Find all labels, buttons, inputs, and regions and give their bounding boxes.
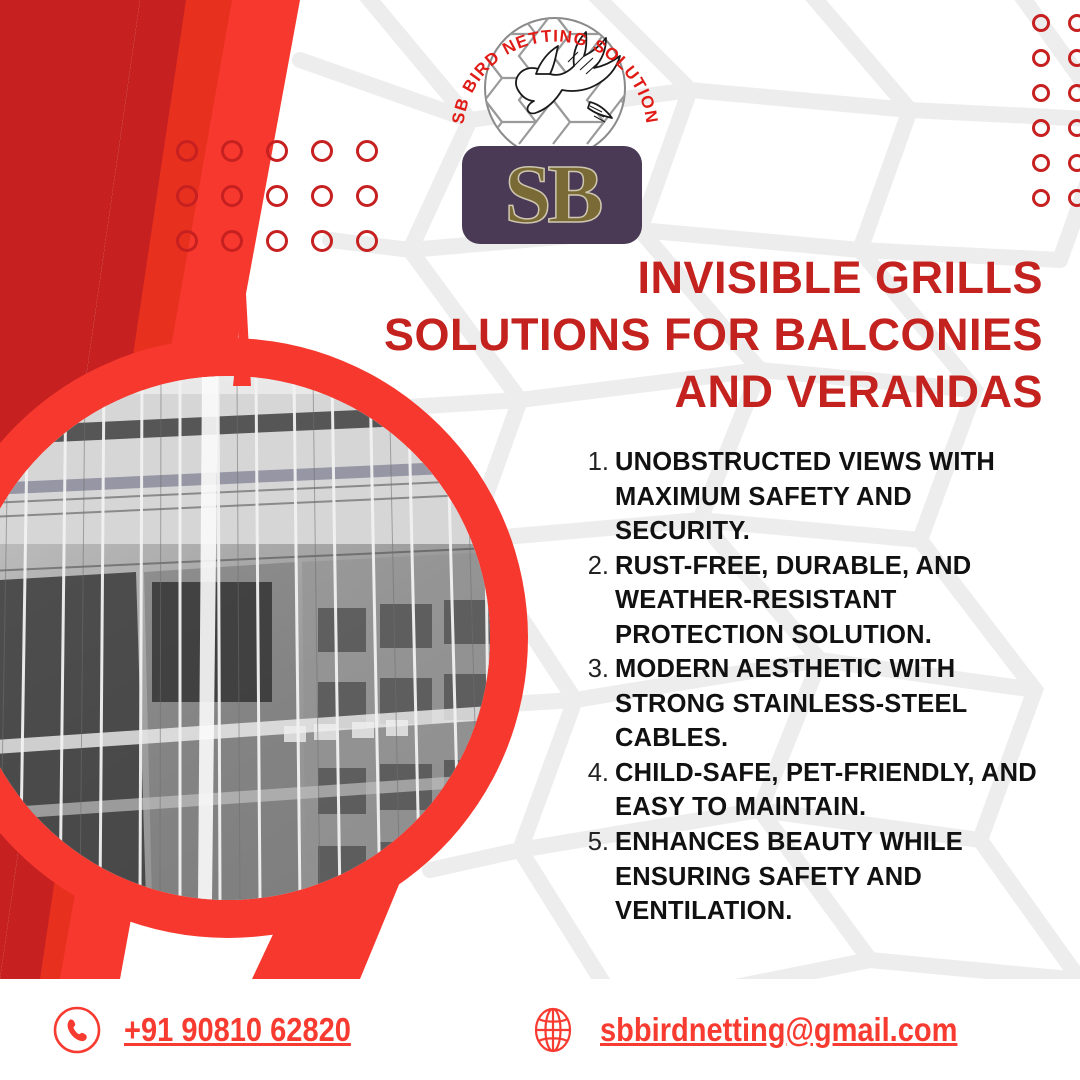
dot [176,185,198,207]
logo-monogram-badge: SB [462,146,642,244]
dot [1068,189,1080,207]
dot [1032,84,1050,102]
contact-email-text: sbbirdnetting@gmail.com [600,1011,957,1049]
dot [1068,154,1080,172]
list-item-text: ENHANCES BEAUTY WHILE ENSURING SAFETY AN… [615,825,1045,929]
list-item-text: CHILD-SAFE, PET-FRIENDLY, AND EASY TO MA… [615,756,1045,825]
logo-emblem: SB BIRD NETTING SOLUTION [440,4,670,164]
dot [311,140,333,162]
list-item: 5. ENHANCES BEAUTY WHILE ENSURING SAFETY… [575,825,1045,929]
contact-email[interactable]: sbbirdnetting@gmail.com [528,1005,1006,1055]
globe-icon [528,1005,578,1055]
list-item-text: RUST-FREE, DURABLE, AND WEATHER-RESISTAN… [615,549,1045,653]
brand-logo: SB BIRD NETTING SOLUTION SB [440,4,670,250]
page-title: INVISIBLE GRILLS SOLUTIONS FOR BALCONIES… [360,249,1043,420]
dot [266,140,288,162]
contact-phone-text: +91 90810 62820 [124,1011,351,1049]
headline-line-2: SOLUTIONS FOR BALCONIES [360,306,1043,363]
dot [176,230,198,252]
list-item-number: 4. [575,756,615,791]
phone-icon [52,1005,102,1055]
contact-phone[interactable]: +91 90810 62820 [52,1005,382,1055]
headline-line-3: AND VERANDAS [360,363,1043,420]
list-item-number: 2. [575,549,615,584]
list-item: 3. MODERN AESTHETIC WITH STRONG STAINLES… [575,652,1045,756]
list-item: 2. RUST-FREE, DURABLE, AND WEATHER-RESIS… [575,549,1045,653]
dot [356,185,378,207]
dot [1068,119,1080,137]
dot [1032,49,1050,67]
red-spike-accent [222,276,262,386]
logo-monogram-text: SB [505,153,600,237]
dot [1032,189,1050,207]
dot [311,230,333,252]
list-item-text: UNOBSTRUCTED VIEWS WITH MAXIMUM SAFETY A… [615,445,1045,549]
dot [176,140,198,162]
dot [1068,14,1080,32]
dot [221,185,243,207]
dot [266,230,288,252]
list-item-number: 3. [575,652,615,687]
dot-grid-left [176,140,384,258]
dot [1032,119,1050,137]
list-item-text: MODERN AESTHETIC WITH STRONG STAINLESS-S… [615,652,1045,756]
dot [1068,84,1080,102]
poster-canvas: SB BIRD NETTING SOLUTION SB INVISIBLE GR… [0,0,1080,1080]
dot-grid-right [1032,14,1080,215]
benefits-list: 1. UNOBSTRUCTED VIEWS WITH MAXIMUM SAFET… [575,445,1045,929]
contact-footer: +91 90810 62820 sbbirdnetting@gmail.com [0,979,1080,1080]
dot [1068,49,1080,67]
dot [221,230,243,252]
product-photo [0,376,490,900]
list-item: 4. CHILD-SAFE, PET-FRIENDLY, AND EASY TO… [575,756,1045,825]
dot [311,185,333,207]
dot [356,140,378,162]
list-item-number: 1. [575,445,615,480]
headline-line-1: INVISIBLE GRILLS [360,249,1043,306]
dot [221,140,243,162]
list-item-number: 5. [575,825,615,860]
list-item: 1. UNOBSTRUCTED VIEWS WITH MAXIMUM SAFET… [575,445,1045,549]
dot [1032,14,1050,32]
dot [1032,154,1050,172]
dot [266,185,288,207]
